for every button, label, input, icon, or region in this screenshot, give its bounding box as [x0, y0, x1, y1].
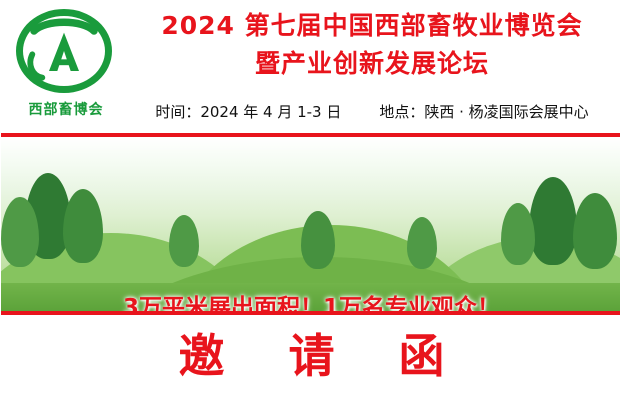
event-meta: 时间：2024 年 4 月 1-3 日 地点：陕西 · 杨凌国际会展中心 — [129, 101, 615, 122]
event-time: 时间：2024 年 4 月 1-3 日 — [155, 101, 341, 122]
tree-icon — [63, 189, 103, 263]
title-line-1: 2024 第七届中国西部畜牧业博览会 — [129, 7, 615, 45]
tree-icon — [301, 211, 335, 269]
tree-icon — [169, 215, 199, 267]
divider-bottom — [1, 311, 621, 315]
highlight-line-1: 3万平米展出面积！1万名专业观众！ — [1, 293, 621, 311]
tree-icon — [407, 217, 437, 269]
tree-icon — [529, 177, 577, 265]
highlight-list: 3万平米展出面积！1万名专业观众！ 1500个展位！500家参展商！ 50位行业… — [1, 293, 621, 311]
poster-title: 2024 第七届中国西部畜牧业博览会 暨产业创新发展论坛 — [129, 7, 615, 83]
event-place: 地点：陕西 · 杨凌国际会展中心 — [379, 101, 588, 122]
title-line-2: 暨产业创新发展论坛 — [129, 45, 615, 83]
scenery-illustration: 3万平米展出面积！1万名专业观众！ 1500个展位！500家参展商！ 50位行业… — [1, 137, 621, 311]
invitation-poster: 西部畜博会 2024 第七届中国西部畜牧业博览会 暨产业创新发展论坛 时间：20… — [0, 0, 621, 402]
logo-mark-icon — [23, 16, 105, 86]
tree-icon — [573, 193, 617, 269]
logo-caption: 西部畜博会 — [7, 99, 125, 119]
logo-circle-icon — [16, 9, 112, 93]
poster-header: 西部畜博会 2024 第七届中国西部畜牧业博览会 暨产业创新发展论坛 时间：20… — [1, 1, 621, 135]
exhibition-logo: 西部畜博会 — [7, 7, 125, 125]
invitation-title: 邀 请 函 — [1, 323, 621, 389]
